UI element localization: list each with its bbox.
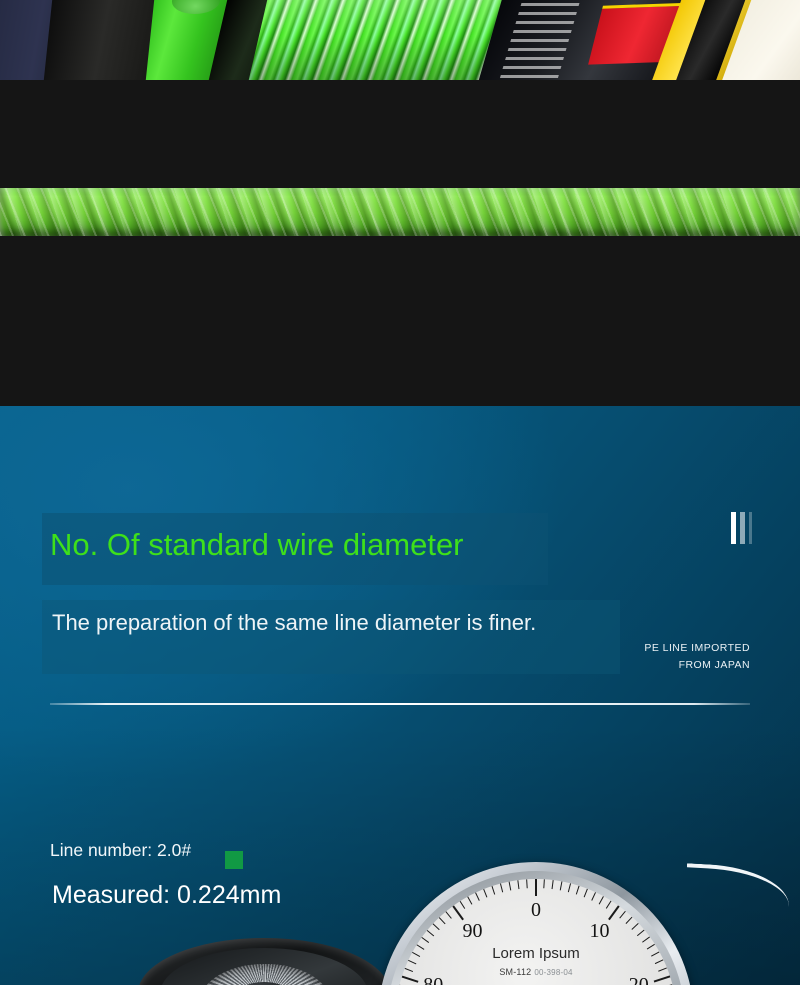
gauge-tick bbox=[608, 905, 620, 920]
photo-threads-sheen bbox=[246, 0, 520, 80]
gauge-tick bbox=[606, 901, 612, 909]
pe-badge-line-2: FROM JAPAN bbox=[600, 657, 750, 674]
micrometer-dial-gauge: Lorem Ipsum SM-11200-398-04 010203040506… bbox=[378, 862, 694, 985]
gauge-dial-number: 80 bbox=[421, 974, 445, 985]
gauge-tick bbox=[560, 881, 563, 890]
gauge-tick bbox=[599, 896, 605, 905]
gauge-tick bbox=[427, 930, 435, 937]
gauge-tick bbox=[576, 886, 580, 895]
gauge-tick bbox=[526, 879, 528, 888]
gauge-tick bbox=[552, 880, 555, 889]
green-braided-line-image bbox=[0, 188, 800, 236]
gauge-tick bbox=[500, 883, 504, 892]
gauge-tick bbox=[446, 911, 453, 919]
horizontal-divider bbox=[50, 703, 750, 705]
gauge-tick bbox=[518, 880, 521, 889]
fishing-reel-spool-image bbox=[138, 938, 390, 985]
weaving-section: High density weaving + Compression Proce… bbox=[0, 80, 800, 260]
gauge-tick bbox=[620, 911, 627, 919]
gauge-tick bbox=[637, 930, 645, 937]
line-number-label: Line number: 2.0# bbox=[50, 840, 191, 861]
gauge-tick bbox=[592, 892, 597, 901]
ordinary-section: Ordinary Hercules bbox=[0, 260, 800, 406]
gauge-tick bbox=[544, 879, 546, 888]
gauge-dial-number: 90 bbox=[461, 920, 485, 943]
product-photo-strip bbox=[0, 0, 800, 80]
measured-value-label: Measured: 0.224mm bbox=[52, 881, 281, 910]
gauge-tick bbox=[535, 879, 537, 896]
gauge-dial-number: 20 bbox=[627, 974, 651, 985]
green-color-swatch bbox=[225, 851, 243, 869]
gauge-dial-number: 0 bbox=[524, 899, 548, 922]
gauge-tick bbox=[422, 937, 430, 943]
signal-bars-icon bbox=[731, 512, 757, 544]
pe-line-origin-badge: PE LINE IMPORTED FROM JAPAN bbox=[600, 640, 750, 674]
gauge-tick bbox=[460, 901, 466, 909]
gauge-tick bbox=[492, 886, 496, 895]
gauge-tick bbox=[452, 905, 464, 920]
gauge-brand-label: Lorem Ipsum bbox=[395, 945, 677, 962]
gauge-tick bbox=[584, 889, 589, 898]
gauge-tick bbox=[467, 896, 473, 905]
product-marketing-page: High density weaving + Compression Proce… bbox=[0, 0, 800, 985]
diameter-subheading: The preparation of the same line diamete… bbox=[52, 608, 592, 637]
gauge-tick bbox=[475, 892, 480, 901]
gauge-model-number: SM-112 bbox=[499, 967, 531, 977]
gauge-tick bbox=[642, 937, 650, 943]
gauge-dial-number: 10 bbox=[587, 920, 611, 943]
gauge-tick bbox=[626, 917, 633, 925]
diameter-heading: No. Of standard wire diameter bbox=[50, 527, 464, 563]
gauge-tick bbox=[568, 883, 572, 892]
gauge-tick bbox=[632, 923, 640, 930]
gauge-tick bbox=[439, 917, 446, 925]
gauge-code: 00-398-04 bbox=[534, 968, 572, 977]
gauge-tick bbox=[483, 889, 488, 898]
gauge-tick bbox=[433, 923, 441, 930]
gauge-tick bbox=[509, 881, 512, 890]
pe-badge-line-1: PE LINE IMPORTED bbox=[600, 640, 750, 657]
